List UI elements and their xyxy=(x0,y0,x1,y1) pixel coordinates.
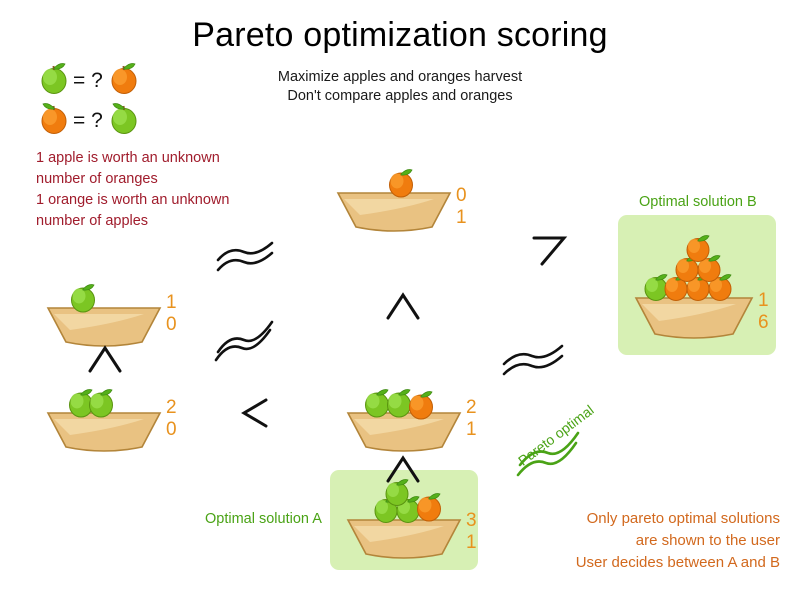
rule-text-line-1: 1 apple is worth an unknown xyxy=(36,148,296,169)
orange-icon xyxy=(412,489,446,523)
score-oranges: 6 xyxy=(758,312,769,334)
rule-text-line-3: 1 orange is worth an unknown xyxy=(36,190,296,211)
rule-text-line-4: number of apples xyxy=(36,211,296,232)
score-oranges: 1 xyxy=(466,419,477,441)
score-apples: 2 xyxy=(466,397,477,419)
incomparable-wave-icon xyxy=(498,340,578,380)
score-apples: 1 xyxy=(166,292,177,314)
rule-text: 1 apple is worth an unknown number of or… xyxy=(36,148,296,232)
orange-icon xyxy=(682,231,714,263)
note-text-line-2: are shown to the user xyxy=(470,530,780,552)
incomparable-wave-icon xyxy=(212,238,284,278)
orange-icon xyxy=(384,165,418,199)
legend-operator-1: = ? xyxy=(73,70,103,91)
score-oranges: 1 xyxy=(456,207,467,229)
orange-icon xyxy=(404,387,438,421)
legend-row-apple-equals-orange: = ? xyxy=(36,60,166,100)
greater-than-up-icon xyxy=(84,341,128,379)
score-solution-b: 1 6 xyxy=(758,290,769,334)
subtitle: Maximize apples and oranges harvest Don'… xyxy=(200,68,600,106)
score-one-orange: 0 1 xyxy=(456,185,467,229)
optimal-solution-a-label: Optimal solution A xyxy=(205,511,322,527)
orange-icon xyxy=(106,60,142,101)
less-than-rotated-icon xyxy=(528,230,572,272)
subtitle-line-1: Maximize apples and oranges harvest xyxy=(200,68,600,87)
note-text-line-3: User decides between A and B xyxy=(470,552,780,574)
score-two-apples: 2 0 xyxy=(166,397,177,441)
apple-icon xyxy=(106,100,142,141)
apple-icon xyxy=(66,280,100,314)
greater-than-up-icon xyxy=(382,288,426,326)
score-one-apple: 1 0 xyxy=(166,292,177,336)
note-text-line-1: Only pareto optimal solutions xyxy=(470,508,780,530)
rule-text-line-2: number of oranges xyxy=(36,169,296,190)
note-text: Only pareto optimal solutions are shown … xyxy=(470,508,780,574)
score-two-apples-one-orange: 2 1 xyxy=(466,397,477,441)
subtitle-line-2: Don't compare apples and oranges xyxy=(200,87,600,106)
score-oranges: 0 xyxy=(166,314,177,336)
greater-than-up-icon xyxy=(382,451,426,489)
fruit-equivalence-legend: = ? = ? xyxy=(36,60,166,140)
apple-icon xyxy=(36,60,72,101)
score-apples: 0 xyxy=(456,185,467,207)
legend-row-orange-equals-apple: = ? xyxy=(36,100,166,140)
apple-icon xyxy=(84,385,118,419)
score-apples: 1 xyxy=(758,290,769,312)
legend-operator-2: = ? xyxy=(73,110,103,131)
less-than-icon xyxy=(234,392,276,432)
orange-icon xyxy=(36,100,72,141)
score-apples: 2 xyxy=(166,397,177,419)
page-title: Pareto optimization scoring xyxy=(0,16,800,55)
score-oranges: 0 xyxy=(166,419,177,441)
optimal-solution-b-label: Optimal solution B xyxy=(639,194,757,210)
incomparable-wave-icon xyxy=(212,312,284,364)
